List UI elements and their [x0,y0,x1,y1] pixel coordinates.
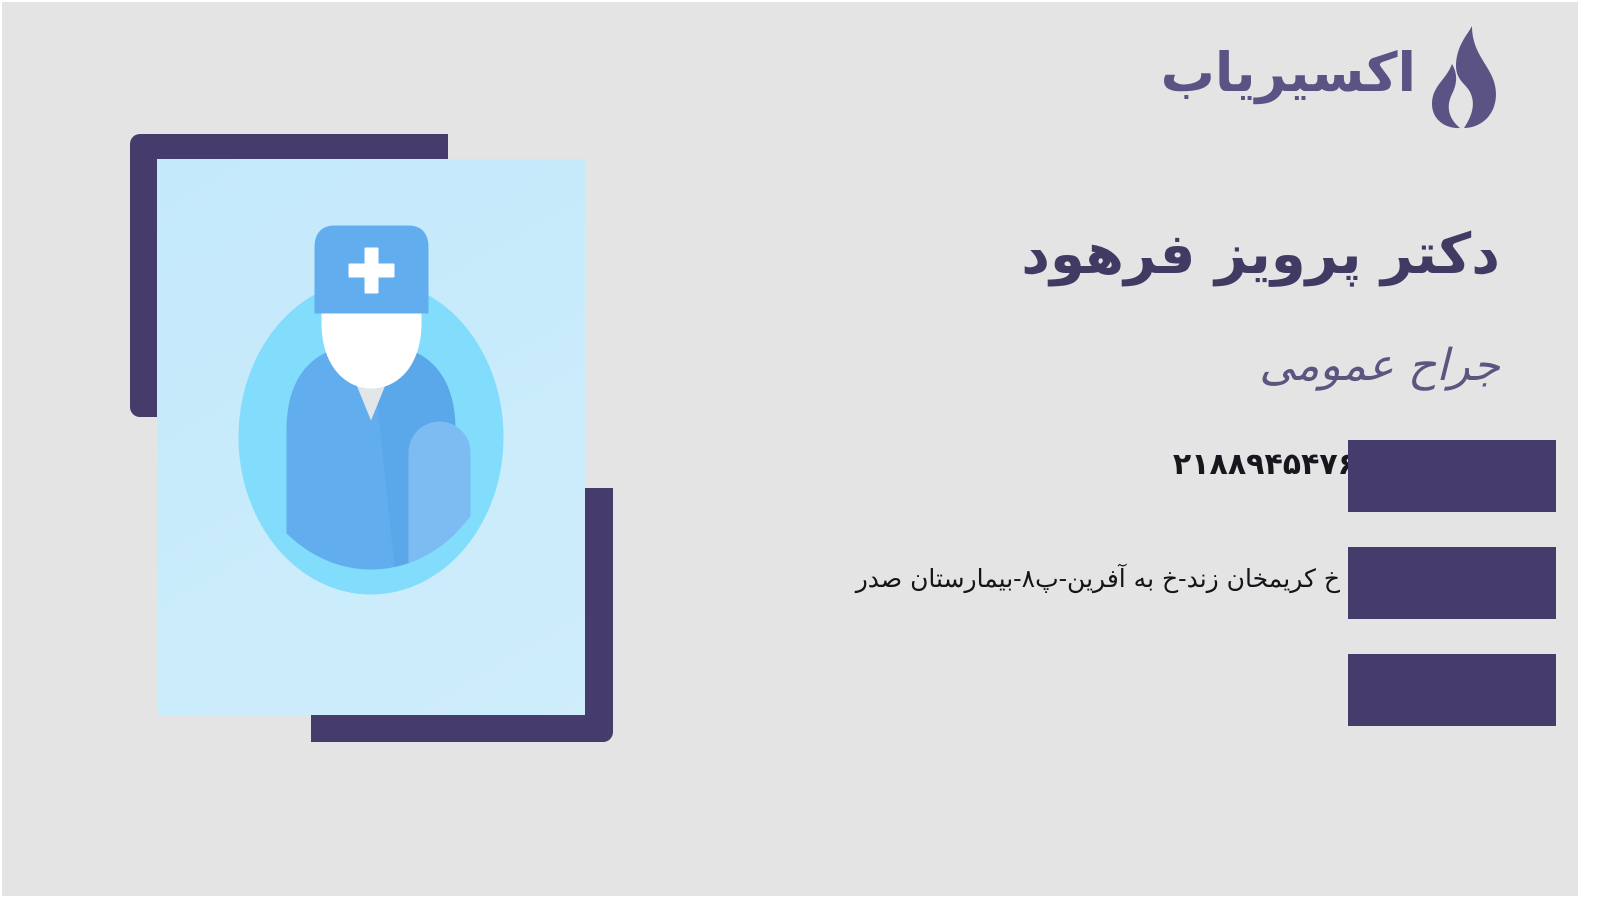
doctor-name: دکتر پرویز فرهود [840,220,1500,290]
doctor-specialty: جراح عمومی [840,338,1500,393]
decorative-bar-2 [1348,547,1556,619]
brand-name: اکسیریاب [1161,46,1416,108]
flame-droplet-icon [1426,24,1500,130]
doctor-address: خ کریمخان زند-خ به آفرین-پ۸-بیمارستان صد… [856,564,1340,593]
business-card-canvas: اکسیریاب دکتر پرویز فرهود جراح عمومی ۲۱۸… [0,0,1600,900]
doctor-phone[interactable]: ۲۱۸۸۹۴۵۴۷۶ [1173,447,1356,482]
doctor-avatar-icon [239,226,504,596]
scrub-arm [409,422,471,592]
decorative-bar-3 [1348,654,1556,726]
doctor-illustration [130,134,620,742]
avatar [239,280,504,595]
card-stage: اکسیریاب دکتر پرویز فرهود جراح عمومی ۲۱۸… [2,2,1578,896]
brand-logo[interactable]: اکسیریاب [1161,24,1500,130]
doctor-photo-card [157,159,585,715]
decorative-bar-1 [1348,440,1556,512]
